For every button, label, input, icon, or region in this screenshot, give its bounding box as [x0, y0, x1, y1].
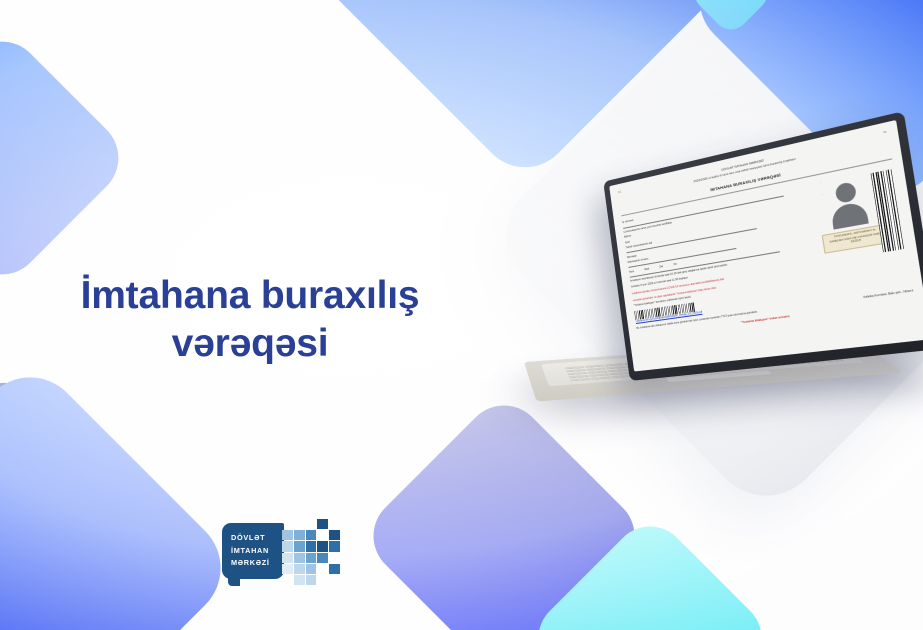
logo-pixel: [317, 575, 328, 585]
logo-pixel: [306, 519, 317, 529]
logo-pixel: [282, 530, 293, 540]
logo-pixel: [282, 553, 293, 563]
logo-pixel: [306, 553, 317, 563]
person-head-icon: [834, 181, 857, 204]
logo-pixel: [294, 575, 305, 585]
logo-pixel: [294, 530, 305, 540]
logo-line-1: DÖVLƏT: [231, 532, 284, 545]
logo-pixel: [294, 564, 305, 574]
doc-col-header: Zal: [659, 265, 663, 270]
laptop-device: 1/1 № DÖVLƏT İMTAHAN MƏRKƏZİ 2024/2025-c…: [520, 176, 920, 426]
doc-col-header: Saat: [644, 267, 650, 272]
decor-diamond-top-left: [0, 25, 135, 291]
keyboard-key: [570, 378, 590, 382]
dim-logo: DÖVLƏT İMTAHAN MƏRKƏZİ: [222, 519, 340, 585]
doc-serial-number: №: [883, 130, 887, 135]
logo-pixel: [317, 541, 328, 551]
logo-pixel: [306, 575, 317, 585]
page-title-line-2: vərəqəsi: [30, 320, 470, 368]
photo-placeholder: Şəxsi fotoşəkil: [821, 173, 875, 231]
logo-pixel: [294, 553, 305, 563]
doc-col-header: Yer: [673, 262, 677, 267]
doc-photo-column: Şəxsi fotoşəkil Covid pasportu, əsdil im…: [807, 164, 912, 293]
person-body-icon: [830, 201, 868, 230]
logo-pixel: [317, 519, 328, 529]
photo-caption: Şəxsi fotoşəkil: [821, 177, 826, 195]
decor-diamond-bottom-left: [0, 356, 242, 630]
logo-pixel: [306, 541, 317, 551]
logo-pixel: [329, 519, 340, 529]
logo-pixel: [329, 564, 340, 574]
logo-pixel: [317, 564, 328, 574]
page-title: İmtahana buraxılış vərəqəsi: [30, 272, 470, 367]
logo-pixel: [317, 530, 328, 540]
doc-page-number: 1/1: [618, 190, 622, 194]
logo-pixel: [306, 564, 317, 574]
page-title-line-1: İmtahana buraxılış: [30, 272, 470, 320]
open-book-icon: DÖVLƏT İMTAHAN MƏRKƏZİ: [222, 523, 284, 579]
logo-pixel: [329, 530, 340, 540]
keyboard-key: [590, 376, 610, 380]
logo-pixel: [317, 553, 328, 563]
logo-pixel: [282, 575, 293, 585]
logo-line-2: İMTAHAN: [231, 545, 284, 558]
logo-pixel: [329, 553, 340, 563]
logo-pixel: [282, 541, 293, 551]
poster-canvas: İmtahana buraxılış vərəqəsi DÖVLƏT İMTAH…: [0, 0, 923, 630]
logo-pixel: [329, 575, 340, 585]
logo-pixel: [294, 541, 305, 551]
logo-pixel: [306, 530, 317, 540]
keyboard-key: [611, 375, 631, 379]
logo-pixel: [282, 564, 293, 574]
doc-col-header: Tarix: [629, 270, 635, 275]
logo-line-3: MƏRKƏZİ: [231, 557, 284, 570]
logo-pixel: [282, 519, 293, 529]
logo-pixel: [329, 541, 340, 551]
logo-pixel: [294, 519, 305, 529]
logo-pixel-mosaic-icon: [282, 519, 340, 585]
